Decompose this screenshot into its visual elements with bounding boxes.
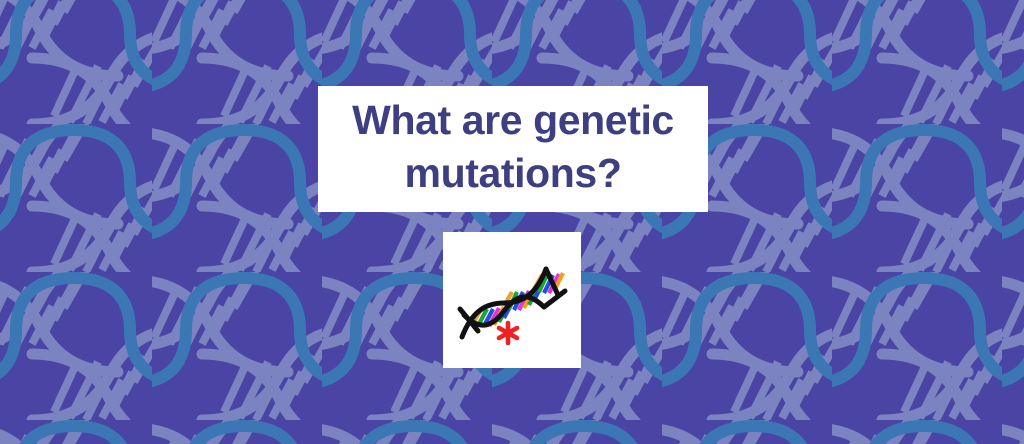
title-card: What are genetic mutations? [318,86,708,212]
page-title: What are genetic mutations? [352,94,674,200]
red-star-mutation-marker [499,323,517,343]
dna-mutation-icon: DNA double helix with a red star marking… [452,245,572,355]
icon-card: DNA double helix with a red star marking… [443,232,581,368]
genetic-mutations-banner: What are genetic mutations? DNA double h… [0,0,1024,444]
dna-backbone [460,269,565,337]
dna-background-pattern [0,0,1024,444]
pattern-fill [0,0,1024,444]
